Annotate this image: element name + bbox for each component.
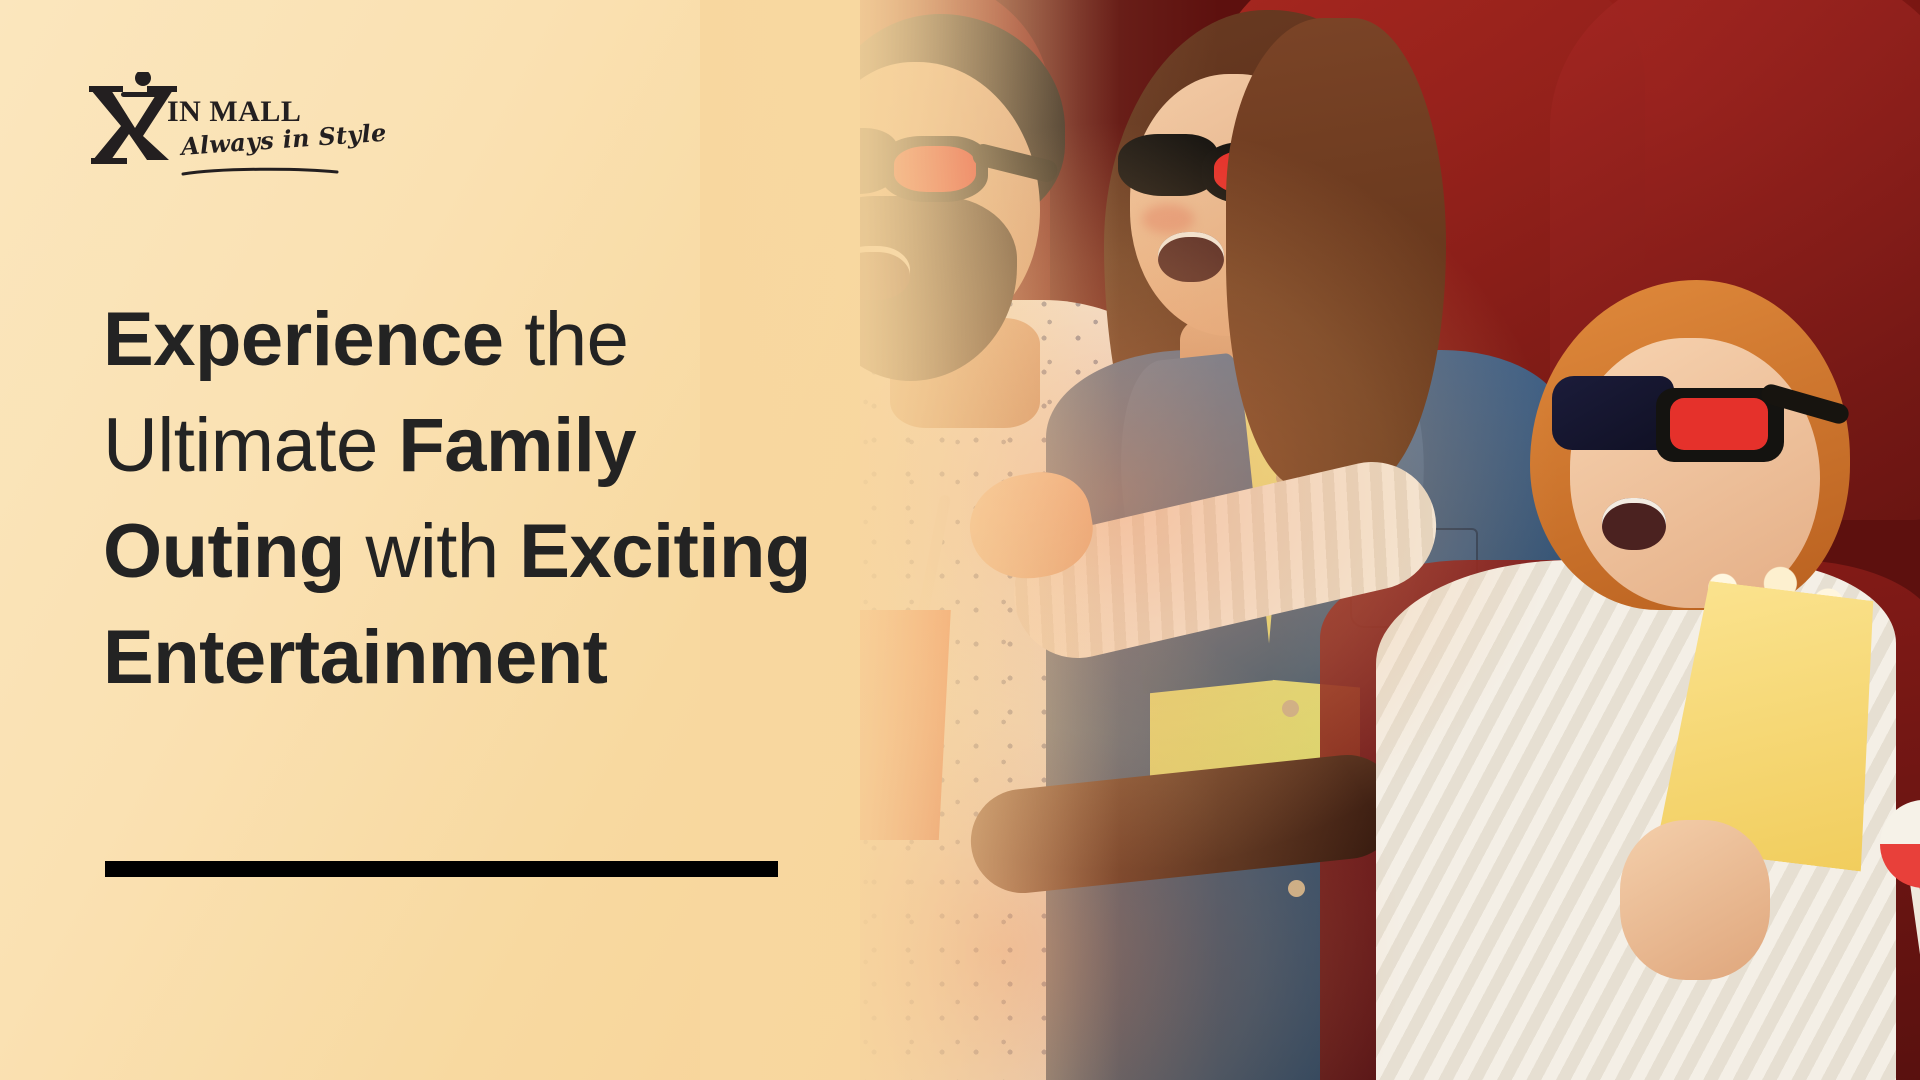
hero-banner: IN MALL Always in Style Experience the U… — [0, 0, 1920, 1080]
headline-line-1: Experience the — [103, 296, 963, 384]
logo-wordmark: IN MALL — [167, 88, 301, 128]
headline-word-the: the — [524, 297, 628, 382]
headline-line-4: Entertainment — [103, 614, 963, 702]
headline-underline-rule — [105, 861, 778, 877]
page-title: Experience the Ultimate Family Outing wi… — [103, 296, 963, 721]
logo-swash-underline — [181, 164, 341, 174]
headline-word-exciting: Exciting — [519, 509, 811, 594]
headline-word-entertainment: Entertainment — [103, 615, 607, 700]
headline-line-2: Ultimate Family — [103, 402, 963, 490]
brand-logo[interactable]: IN MALL Always in Style — [85, 58, 355, 168]
headline-word-with: with — [365, 509, 498, 594]
x-person-icon — [85, 72, 177, 164]
headline-word-ultimate: Ultimate — [103, 403, 378, 488]
headline-word-experience: Experience — [103, 297, 504, 382]
logo-word-rest: IN MALL — [167, 95, 301, 128]
headline-word-outing: Outing — [103, 509, 345, 594]
headline-line-3: Outing with Exciting — [103, 508, 963, 596]
headline-word-family: Family — [398, 403, 636, 488]
